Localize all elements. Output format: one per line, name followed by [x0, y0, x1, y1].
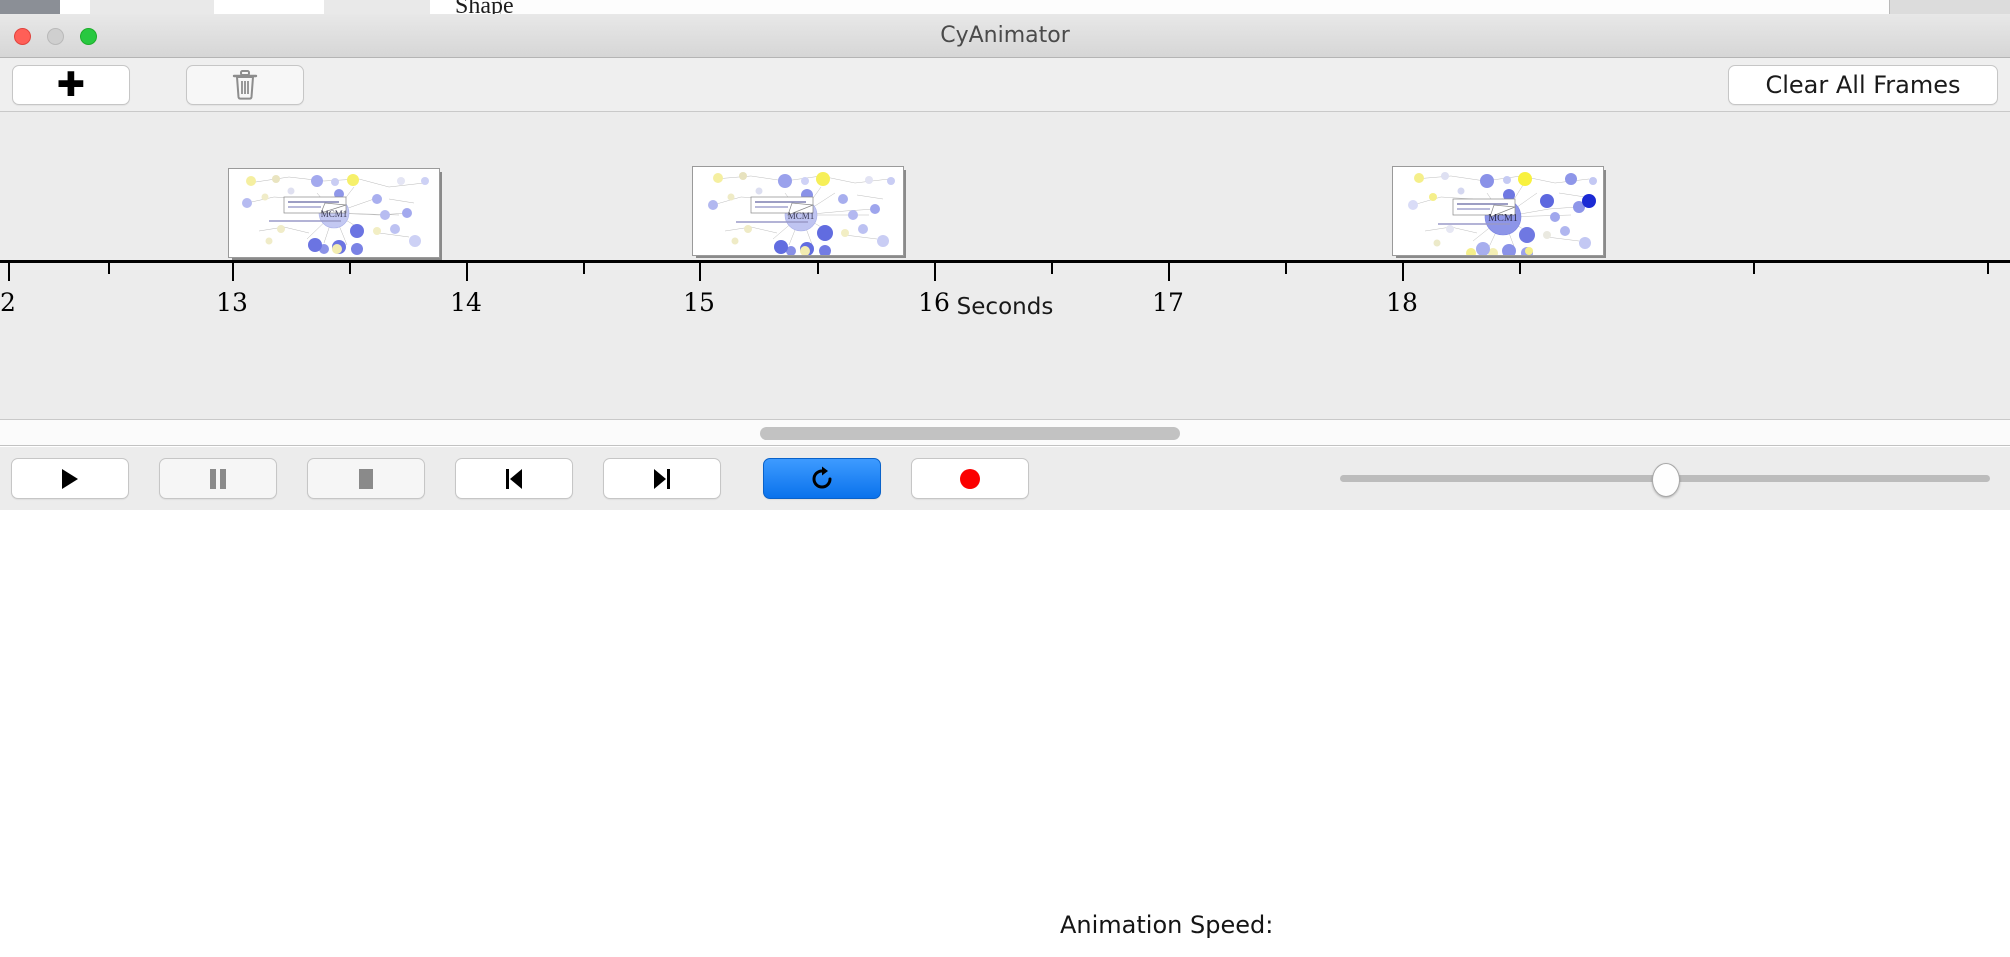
- axis-tick-minor: [349, 263, 351, 274]
- bg-chip: [1889, 0, 2010, 14]
- stop-button[interactable]: [307, 458, 425, 499]
- title-bar: CyAnimator: [0, 14, 2010, 58]
- cyanimator-window: Shape CyAnimator ✚ Clear All Frames: [0, 0, 2010, 510]
- axis-tick-major: [1168, 263, 1170, 281]
- delete-frame-button[interactable]: [186, 65, 304, 105]
- axis-tick-minor: [1753, 263, 1755, 274]
- keyframe-thumbnail[interactable]: MCM1: [228, 168, 442, 260]
- timeline-axis: [0, 260, 2010, 263]
- loop-button[interactable]: [763, 458, 881, 499]
- timeline-panel[interactable]: MCM1: [0, 112, 2010, 420]
- pause-icon: [208, 467, 228, 491]
- scrollbar-thumb[interactable]: [760, 427, 1180, 440]
- animation-speed-label: Animation Speed:: [1060, 894, 1273, 957]
- clear-all-frames-label: Clear All Frames: [1765, 71, 1960, 99]
- axis-title: Seconds: [0, 294, 2010, 320]
- axis-tick-major: [232, 263, 234, 281]
- stop-icon: [356, 467, 376, 491]
- axis-tick-minor: [1519, 263, 1521, 274]
- bg-chip: [324, 0, 431, 14]
- skip-to-end-button[interactable]: [603, 458, 721, 499]
- thumbnail-image: MCM1: [228, 168, 440, 258]
- axis-tick-minor: [1051, 263, 1053, 274]
- clear-all-frames-button[interactable]: Clear All Frames: [1728, 65, 1998, 105]
- background-window-label: Shape: [455, 0, 514, 15]
- axis-tick-major: [1402, 263, 1404, 281]
- keyframe-thumbnail[interactable]: MCM1: [692, 166, 906, 258]
- close-button[interactable]: [14, 28, 31, 45]
- window-title: CyAnimator: [0, 14, 2010, 58]
- animation-speed-slider[interactable]: [1340, 447, 1990, 510]
- skip-to-start-button[interactable]: [455, 458, 573, 499]
- skip-to-start-icon: [503, 467, 525, 491]
- axis-tick-major: [934, 263, 936, 281]
- maximize-button[interactable]: [80, 28, 97, 45]
- thumbnail-image: MCM1: [1392, 166, 1604, 256]
- thumbnail-image: MCM1: [692, 166, 904, 256]
- play-icon: [59, 467, 81, 491]
- keyframe-thumbnail[interactable]: MCM1: [1392, 166, 1606, 258]
- add-frame-button[interactable]: ✚: [12, 65, 130, 105]
- axis-tick-major: [699, 263, 701, 281]
- axis-tick-major: [8, 263, 10, 281]
- axis-tick-minor: [817, 263, 819, 274]
- hub-node-label: MCM1: [788, 211, 815, 221]
- slider-thumb[interactable]: [1652, 463, 1680, 497]
- axis-tick-minor: [1987, 263, 1989, 274]
- bg-chip: [214, 0, 325, 14]
- axis-tick-minor: [108, 263, 110, 274]
- background-window-strip: Shape: [0, 0, 2010, 15]
- record-button[interactable]: [911, 458, 1029, 499]
- hub-node-label: MCM1: [1488, 213, 1517, 224]
- play-button[interactable]: [11, 458, 129, 499]
- trash-icon: [232, 70, 258, 100]
- pause-button[interactable]: [159, 458, 277, 499]
- loop-icon: [809, 466, 835, 492]
- skip-to-end-icon: [651, 467, 673, 491]
- axis-tick-minor: [1285, 263, 1287, 274]
- bg-chip: [0, 0, 61, 14]
- bg-chip: [90, 0, 215, 14]
- bg-chip: [60, 0, 91, 14]
- timeline-scrollbar[interactable]: [0, 420, 2010, 446]
- plus-icon: ✚: [57, 68, 86, 102]
- minimize-button[interactable]: [47, 28, 64, 45]
- axis-tick-minor: [583, 263, 585, 274]
- hub-node-label: MCM1: [321, 209, 348, 219]
- record-icon: [958, 467, 982, 491]
- axis-tick-major: [466, 263, 468, 281]
- toolbar: ✚ Clear All Frames: [0, 58, 2010, 112]
